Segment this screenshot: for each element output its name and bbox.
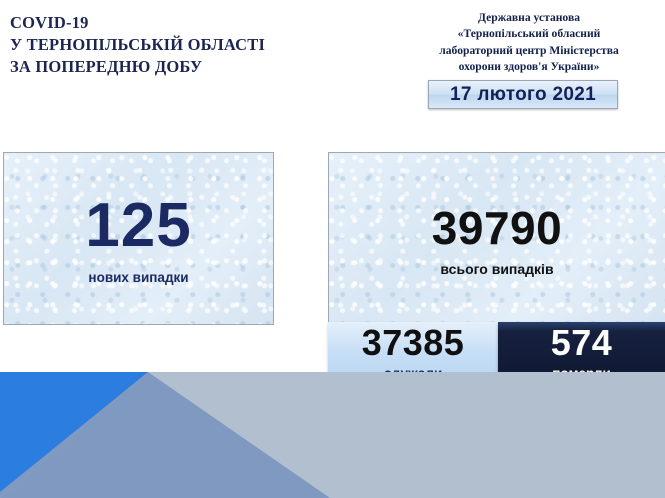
page-title-line-1: COVID-19 (10, 12, 310, 34)
decorative-shapes-icon (0, 372, 665, 498)
page-title-line-2: У ТЕРНОПІЛЬСЬКІЙ ОБЛАСТІ (10, 34, 310, 56)
new-cases-label: нових випадки (4, 270, 273, 285)
organization-line-3: лабораторний центр Міністерства (398, 43, 660, 59)
organization-line-2: «Тернопільський обласний (398, 26, 660, 42)
new-cases-card: 125 нових випадки (3, 152, 274, 325)
new-cases-value: 125 (4, 195, 273, 257)
organization-line-4: охорони здоров'я України» (398, 59, 660, 75)
decorative-band (0, 372, 665, 498)
date-badge-label: 17 лютого 2021 (450, 84, 596, 106)
page-title: COVID-19 У ТЕРНОПІЛЬСЬКІЙ ОБЛАСТІ ЗА ПОП… (10, 12, 310, 77)
total-cases-label: всього випадків (329, 261, 665, 277)
organization-line-1: Державна установа (398, 10, 660, 26)
infographic-page: COVID-19 У ТЕРНОПІЛЬСЬКІЙ ОБЛАСТІ ЗА ПОП… (0, 0, 665, 498)
date-badge: 17 лютого 2021 (428, 80, 618, 109)
page-title-line-3: ЗА ПОПЕРЕДНЮ ДОБУ (10, 56, 310, 78)
deaths-value: 574 (498, 324, 665, 362)
total-cases-card: 39790 всього випадків (328, 152, 665, 323)
recovered-value: 37385 (328, 324, 498, 362)
organization-block: Державна установа «Тернопільський обласн… (398, 10, 660, 76)
total-cases-value: 39790 (329, 205, 665, 251)
